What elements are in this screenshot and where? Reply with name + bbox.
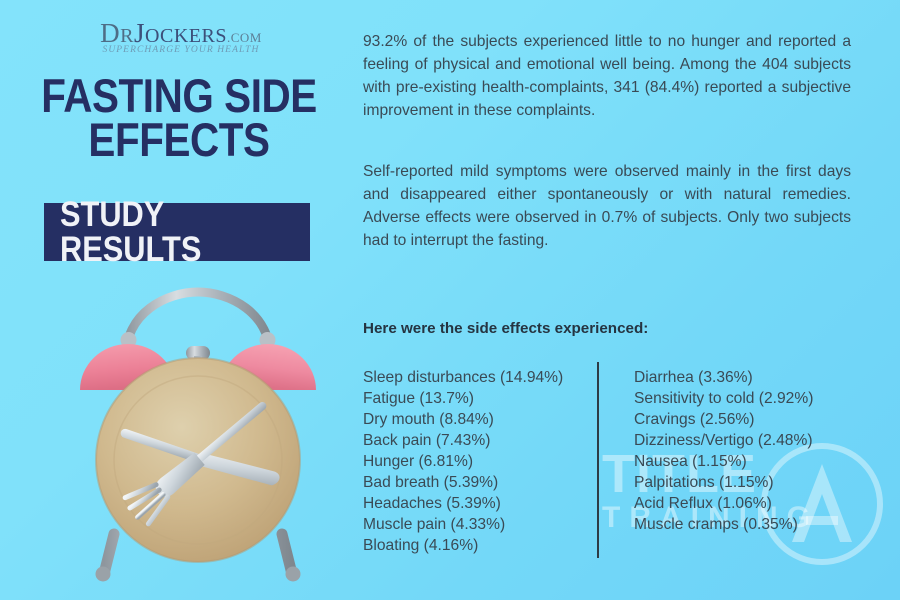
brand-tagline: SUPERCHARGE YOUR HEALTH [76,45,286,55]
side-effects-left-column: Sleep disturbances (14.94%) Fatigue (13.… [363,368,608,557]
headline-line-1: FASTING SIDE [37,74,321,118]
list-item: Palpitations (1.15%) [634,473,813,494]
list-item: Muscle cramps (0.35%) [634,515,813,536]
side-effects-heading: Here were the side effects experienced: [363,320,648,337]
list-item: Sensitivity to cold (2.92%) [634,389,813,410]
clock-foot-left [96,567,111,582]
list-item: Headaches (5.39%) [363,494,608,515]
list-item: Bad breath (5.39%) [363,473,608,494]
list-item: Nausea (1.15%) [634,452,813,473]
clock-foot-right [286,567,301,582]
list-item: Cravings (2.56%) [634,410,813,431]
side-effects-right-column: Diarrhea (3.36%) Sensitivity to cold (2.… [608,368,813,557]
list-item: Muscle pain (4.33%) [363,515,608,536]
alarm-clock-illustration [58,282,338,582]
infographic-canvas: TITLE TRAINING DRJOCKERS.COM SUPERCHARGE… [0,0,900,600]
brand-dr: DR [100,18,134,48]
paragraph-study-summary: 93.2% of the subjects experienced little… [363,30,851,122]
list-item: Hunger (6.81%) [363,452,608,473]
study-results-badge-label: STUDY RESULTS [60,197,294,267]
study-results-badge: STUDY RESULTS [44,203,310,261]
list-item: Acid Reflux (1.06%) [634,494,813,515]
list-item: Back pain (7.43%) [363,431,608,452]
page-title: FASTING SIDE EFFECTS [37,74,321,161]
paragraph-symptoms-summary: Self-reported mild symptoms were observe… [363,160,851,252]
list-item: Dizziness/Vertigo (2.48%) [634,431,813,452]
side-effects-lists: Sleep disturbances (14.94%) Fatigue (13.… [363,368,858,557]
list-item: Fatigue (13.7%) [363,389,608,410]
brand-jockers: JOCKERS [134,18,227,48]
brand-name: DRJOCKERS.COM [76,20,286,47]
list-item: Diarrhea (3.36%) [634,368,813,389]
brand-domain: .COM [227,30,262,45]
brand-logo: DRJOCKERS.COM SUPERCHARGE YOUR HEALTH [76,20,286,55]
list-item: Bloating (4.16%) [363,536,608,557]
headline-line-2: EFFECTS [37,118,321,162]
list-item: Sleep disturbances (14.94%) [363,368,608,389]
list-item: Dry mouth (8.84%) [363,410,608,431]
